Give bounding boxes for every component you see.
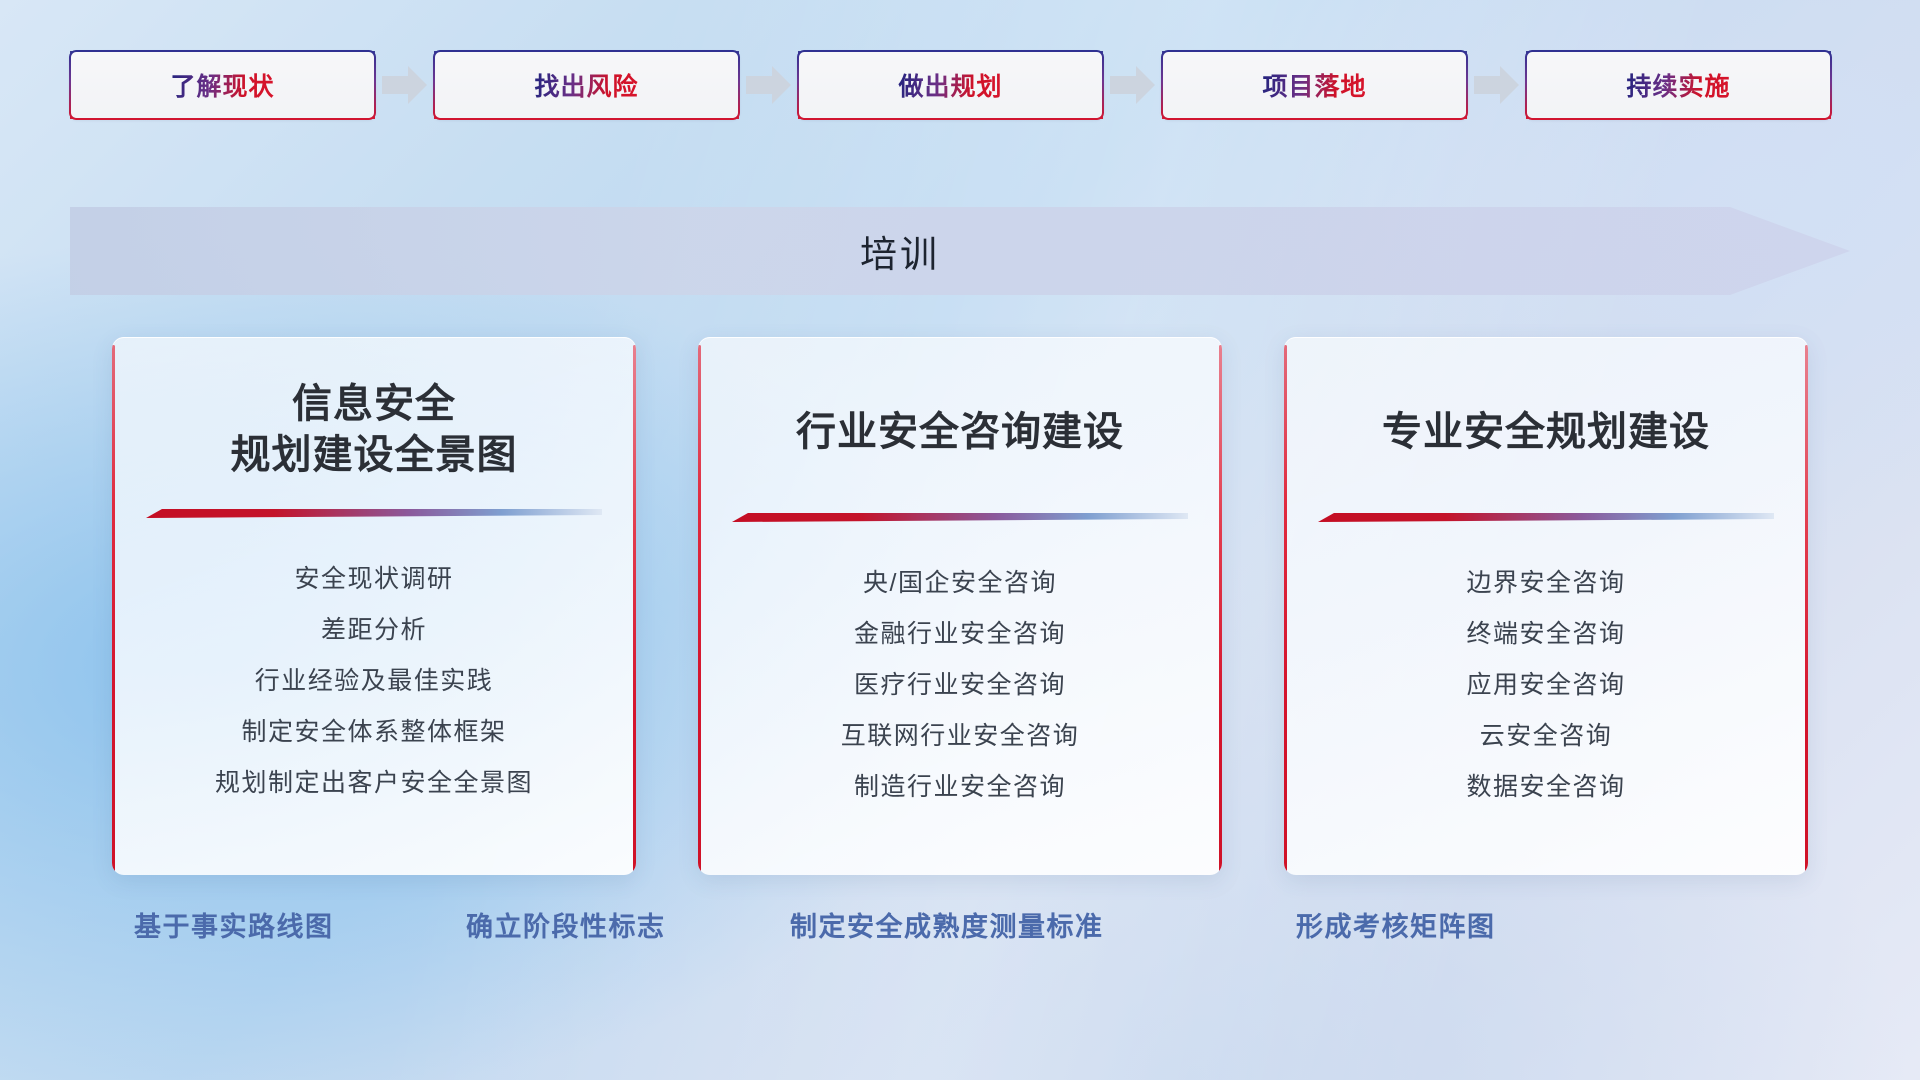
step-box-5[interactable]: 持续实施 <box>1526 51 1831 119</box>
bottom-label-4: 形成考核矩阵图 <box>1296 905 1496 944</box>
list-item: 制造行业安全咨询 <box>854 772 1066 802</box>
step-arrow-icon-1 <box>382 65 427 105</box>
list-item: 应用安全咨询 <box>1466 670 1625 700</box>
card-divider <box>1318 511 1774 522</box>
list-item: 安全现状调研 <box>294 564 453 594</box>
list-item: 终端安全咨询 <box>1466 619 1625 649</box>
card-list: 边界安全咨询 终端安全咨询 应用安全咨询 云安全咨询 数据安全咨询 <box>1318 568 1774 802</box>
list-item: 云安全咨询 <box>1480 721 1613 751</box>
step-arrow-icon-4 <box>1474 65 1519 105</box>
banner-title: 培训 <box>70 207 1730 295</box>
card-industry-security-consulting[interactable]: 行业安全咨询建设 央/国 <box>698 337 1222 875</box>
card-title-line: 信息安全 <box>231 379 518 430</box>
card-title: 信息安全 规划建设全景图 <box>231 379 518 481</box>
list-item: 制定安全体系整体框架 <box>241 717 506 747</box>
list-item: 医疗行业安全咨询 <box>854 670 1066 700</box>
step-label: 找出风险 <box>534 67 638 103</box>
card-title: 专业安全规划建设 <box>1382 407 1710 458</box>
bottom-labels: 基于事实路线图 确立阶段性标志 制定安全成熟度测量标准 形成考核矩阵图 <box>0 905 1920 975</box>
card-list: 安全现状调研 差距分析 行业经验及最佳实践 制定安全体系整体框架 规划制定出客户… <box>146 564 602 798</box>
list-item: 规划制定出客户安全全景图 <box>215 768 533 798</box>
bottom-label-1: 基于事实路线图 <box>134 905 334 944</box>
step-arrow-icon-3 <box>1110 65 1155 105</box>
card-title-line: 规划建设全景图 <box>231 430 518 481</box>
card-title-line: 行业安全咨询建设 <box>796 407 1124 458</box>
step-label: 项目落地 <box>1262 67 1366 103</box>
list-item: 边界安全咨询 <box>1466 568 1625 598</box>
list-item: 行业经验及最佳实践 <box>255 666 494 696</box>
list-item: 互联网行业安全咨询 <box>841 721 1080 751</box>
bottom-label-3: 制定安全成熟度测量标准 <box>790 905 1104 944</box>
step-label: 做出规划 <box>898 67 1002 103</box>
list-item: 央/国企安全咨询 <box>863 568 1057 598</box>
step-arrow-icon-2 <box>746 65 791 105</box>
bottom-label-2: 确立阶段性标志 <box>466 905 666 944</box>
card-professional-security-planning[interactable]: 专业安全规划建设 边界安 <box>1284 337 1808 875</box>
card-title: 行业安全咨询建设 <box>796 407 1124 458</box>
step-box-2[interactable]: 找出风险 <box>434 51 739 119</box>
step-label: 了解现状 <box>170 67 274 103</box>
list-item: 差距分析 <box>321 615 427 645</box>
training-banner: 培训 <box>70 207 1850 295</box>
process-steps: 了解现状 找出风险 做出规划 项目落地 持续实施 <box>0 0 1920 170</box>
list-item: 金融行业安全咨询 <box>854 619 1066 649</box>
step-box-3[interactable]: 做出规划 <box>798 51 1103 119</box>
step-box-1[interactable]: 了解现状 <box>70 51 375 119</box>
step-label: 持续实施 <box>1626 67 1730 103</box>
cards-row: 信息安全 规划建设全景图 <box>0 337 1920 877</box>
list-item: 数据安全咨询 <box>1466 772 1625 802</box>
card-title-line: 专业安全规划建设 <box>1382 407 1710 458</box>
card-info-security-blueprint[interactable]: 信息安全 规划建设全景图 <box>112 337 636 875</box>
card-list: 央/国企安全咨询 金融行业安全咨询 医疗行业安全咨询 互联网行业安全咨询 制造行… <box>732 568 1188 802</box>
card-divider <box>732 511 1188 522</box>
card-divider <box>146 507 602 518</box>
step-box-4[interactable]: 项目落地 <box>1162 51 1467 119</box>
